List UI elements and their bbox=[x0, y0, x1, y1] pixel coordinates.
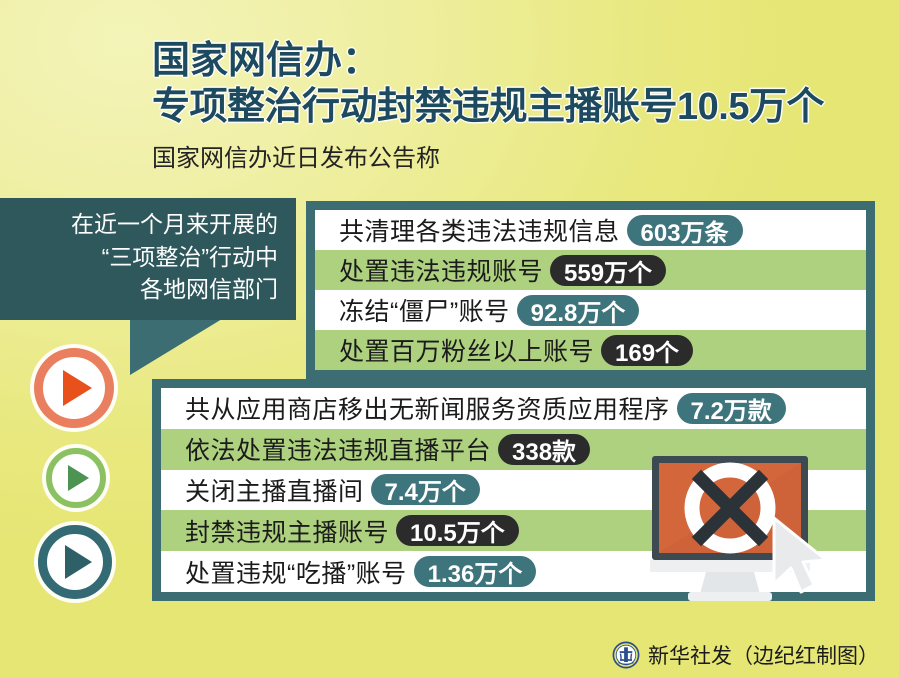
play-button-orange[interactable] bbox=[34, 348, 114, 428]
play-triangle-icon bbox=[63, 370, 92, 406]
infographic-canvas: 国家网信办： 专项整治行动封禁违规主播账号10.5万个 国家网信办近日发布公告称… bbox=[0, 0, 899, 678]
stat-row: 冻结“僵尸”账号92.8万个 bbox=[315, 290, 866, 330]
stat-value-badge: 7.2万款 bbox=[677, 393, 786, 424]
stat-row: 处置违法违规账号559万个 bbox=[315, 250, 866, 290]
stats-panel-one: 共清理各类违法违规信息603万条处置违法违规账号559万个冻结“僵尸”账号92.… bbox=[306, 201, 875, 379]
stat-value-badge: 7.4万个 bbox=[371, 474, 480, 505]
speech-bubble-tail bbox=[130, 319, 222, 375]
xinhua-logo bbox=[612, 641, 640, 669]
stat-label: 共清理各类违法违规信息 bbox=[339, 212, 620, 248]
stat-label: 关闭主播直播间 bbox=[185, 472, 364, 508]
stat-value-badge: 338款 bbox=[498, 434, 590, 465]
stat-label: 依法处置违法违规直播平台 bbox=[185, 431, 491, 467]
stat-value-badge: 559万个 bbox=[550, 255, 666, 286]
play-triangle-icon bbox=[68, 465, 89, 491]
stat-label: 共从应用商店移出无新闻服务资质应用程序 bbox=[185, 390, 670, 426]
stat-value-badge: 169个 bbox=[601, 335, 693, 366]
footer-credit: 新华社发（边纪红制图） bbox=[612, 640, 879, 670]
stat-value-badge: 92.8万个 bbox=[517, 295, 640, 326]
stat-label: 冻结“僵尸”账号 bbox=[339, 292, 510, 328]
monitor-icon bbox=[648, 452, 866, 604]
stats-panel-one-rows: 共清理各类违法违规信息603万条处置违法违规账号559万个冻结“僵尸”账号92.… bbox=[315, 210, 866, 370]
stat-row: 共从应用商店移出无新闻服务资质应用程序7.2万款 bbox=[161, 388, 866, 429]
speech-bubble-text: 在近一个月来开展的 “三项整治”行动中 各地网信部门 bbox=[12, 208, 278, 306]
stat-row: 共清理各类违法违规信息603万条 bbox=[315, 210, 866, 250]
stat-label: 处置百万粉丝以上账号 bbox=[339, 332, 594, 368]
headline-line-1: 国家网信办： bbox=[152, 40, 892, 83]
play-button-teal[interactable] bbox=[38, 525, 112, 599]
title-block: 国家网信办： 专项整治行动封禁违规主播账号10.5万个 国家网信办近日发布公告称 bbox=[152, 40, 892, 173]
speech-bubble: 在近一个月来开展的 “三项整治”行动中 各地网信部门 bbox=[0, 198, 296, 320]
stat-row: 处置百万粉丝以上账号169个 bbox=[315, 330, 866, 370]
headline-line-2: 专项整治行动封禁违规主播账号10.5万个 bbox=[152, 86, 892, 129]
stat-value-badge: 10.5万个 bbox=[396, 515, 519, 546]
stat-label: 处置违法违规账号 bbox=[339, 252, 543, 288]
stat-label: 处置违规“吃播”账号 bbox=[185, 554, 407, 590]
credit-text: 新华社发（边纪红制图） bbox=[648, 640, 879, 670]
subtitle: 国家网信办近日发布公告称 bbox=[152, 138, 892, 173]
stat-label: 封禁违规主播账号 bbox=[185, 513, 389, 549]
play-triangle-icon bbox=[65, 545, 92, 579]
play-button-green[interactable] bbox=[46, 448, 106, 508]
blocked-monitor-illustration bbox=[648, 452, 866, 604]
stat-value-badge: 1.36万个 bbox=[414, 556, 537, 587]
stat-value-badge: 603万条 bbox=[627, 215, 743, 246]
